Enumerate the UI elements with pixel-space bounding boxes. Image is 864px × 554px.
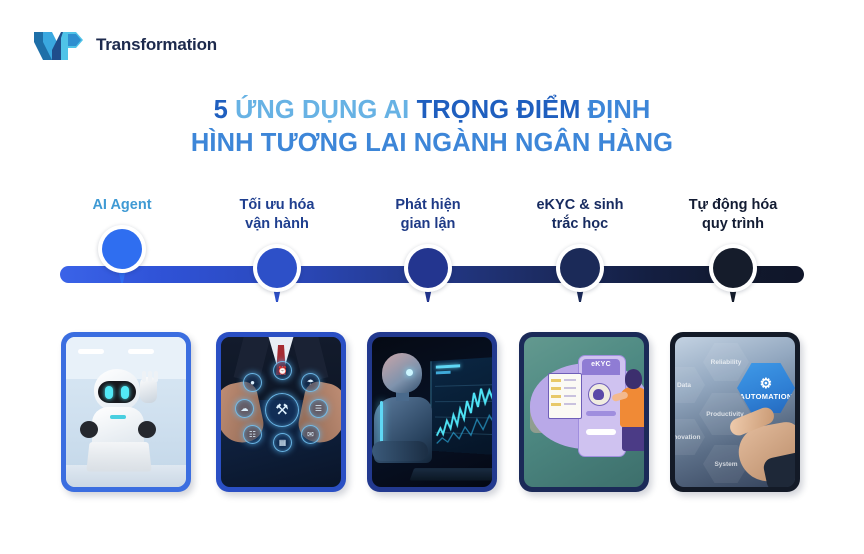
scene-ekyc-illustration: eKYC [524, 337, 644, 487]
timeline-dot-2[interactable] [253, 244, 301, 292]
scene-hands-gears: ⚒ ⏰ ● ☂ ☁ ☰ ☷ [221, 337, 341, 487]
timeline-label-2: Tối ưu hóa vận hành [202, 196, 352, 240]
timeline-label-1: AI Agent [47, 196, 197, 221]
hex-innovation: Innovation [675, 419, 705, 455]
timeline-marker-2[interactable] [202, 240, 352, 302]
gear-icon-lower-right: ✉ [301, 425, 320, 444]
timeline-node-2[interactable]: Tối ưu hóa vận hành [202, 196, 352, 302]
gear-icon-right: ☰ [309, 399, 328, 418]
title-seg-ungdung: ỨNG DỤNG AI [235, 96, 417, 124]
timeline-dot-4[interactable] [556, 244, 604, 292]
timeline-node-3[interactable]: Phát hiện gian lận [353, 196, 503, 302]
brand-wordmark: Transformation [96, 35, 217, 55]
card-image-ai-agent [66, 337, 186, 487]
timeline-dot-3[interactable] [404, 244, 452, 292]
timeline-node-4[interactable]: eKYC & sinh trắc học [505, 196, 655, 302]
mp-logo-icon [32, 28, 86, 62]
card-phat-hien-gian-lan[interactable] [367, 332, 497, 492]
timeline-node-1[interactable]: AI Agent [47, 196, 197, 283]
timeline-marker-5[interactable] [658, 240, 808, 302]
timeline-marker-4[interactable] [505, 240, 655, 302]
pointing-hand [729, 395, 795, 481]
hex-data: Data [675, 367, 705, 403]
timeline: AI Agent Tối ưu hóa vận hành Phát hiện g… [0, 196, 864, 326]
timeline-marker-1[interactable] [47, 221, 197, 283]
card-row: ⚒ ⏰ ● ☂ ☁ ☰ ☷ [0, 332, 864, 504]
card-ekyc[interactable]: eKYC [519, 332, 649, 492]
chart-line-icon [435, 378, 492, 451]
gear-icon-lower-left: ☷ [243, 425, 262, 444]
gear-icon-upper-left: ● [243, 373, 262, 392]
page-title: 5 ỨNG DỤNG AI TRỌNG ĐIỂM ĐỊNH HÌNH TƯƠNG… [0, 94, 864, 160]
gear-icon-center: ⚒ [265, 393, 299, 427]
card-image-phat-hien-gian-lan [372, 337, 492, 487]
gear-icon-left: ☁ [235, 399, 254, 418]
gear-icon-bottom: ▦ [273, 433, 292, 452]
timeline-label-5: Tự động hóa quy trình [658, 196, 808, 240]
card-tu-dong-hoa[interactable]: Data Innovation Reliability Productivity… [670, 332, 800, 492]
title-seg-number: 5 [214, 96, 235, 124]
ekyc-screen-label: eKYC [582, 361, 620, 368]
card-ai-agent[interactable] [61, 332, 191, 492]
gear-icon: ⚙ [760, 376, 773, 390]
timeline-dot-1[interactable] [98, 225, 146, 273]
hex-reliability: Reliability [703, 343, 749, 381]
scene-robot-chart [372, 337, 492, 487]
gear-icon-top: ⏰ [273, 361, 292, 380]
title-line-1: 5 ỨNG DỤNG AI TRỌNG ĐIỂM ĐỊNH [0, 94, 864, 127]
scene-robot-laptop [66, 337, 186, 487]
card-image-ekyc: eKYC [524, 337, 644, 487]
title-line-2: HÌNH TƯƠNG LAI NGÀNH NGÂN HÀNG [0, 127, 864, 160]
card-image-toi-uu-hoa: ⚒ ⏰ ● ☂ ☁ ☰ ☷ [221, 337, 341, 487]
timeline-dot-5[interactable] [709, 244, 757, 292]
timeline-node-5[interactable]: Tự động hóa quy trình [658, 196, 808, 302]
timeline-label-3: Phát hiện gian lận [353, 196, 503, 240]
scene-automation-hex: Data Innovation Reliability Productivity… [675, 337, 795, 487]
gear-icon-upper-right: ☂ [301, 373, 320, 392]
card-image-tu-dong-hoa: Data Innovation Reliability Productivity… [675, 337, 795, 487]
timeline-label-4: eKYC & sinh trắc học [505, 196, 655, 240]
title-seg-dinh: ĐỊNH [588, 96, 651, 124]
title-seg-trongdiem: TRỌNG ĐIỂM [417, 96, 588, 124]
card-toi-uu-hoa[interactable]: ⚒ ⏰ ● ☂ ☁ ☰ ☷ [216, 332, 346, 492]
brand-logo: Transformation [32, 28, 217, 62]
timeline-marker-3[interactable] [353, 240, 503, 302]
